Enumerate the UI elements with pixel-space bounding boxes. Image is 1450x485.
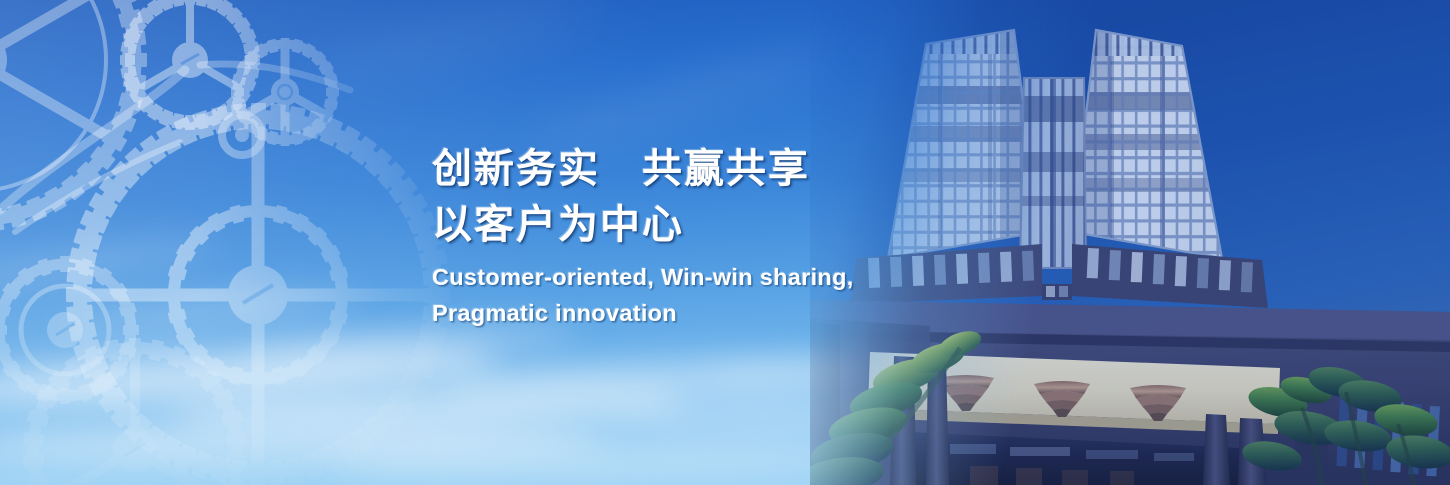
hero-text-block: 创新务实 共赢共享 以客户为中心 Customer-oriented, Win-… (432, 141, 854, 331)
headquarters-building-photo (810, 0, 1450, 485)
subheadline-line-1: Customer-oriented, Win-win sharing, (432, 259, 854, 295)
cloud-wisp (302, 0, 598, 86)
headline-line-1: 创新务实 共赢共享 (432, 141, 854, 197)
cloud-wisp (0, 232, 220, 290)
subheadline-line-2: Pragmatic innovation (432, 295, 854, 331)
cloud-wisp (60, 287, 361, 337)
cloud-wisp (524, 42, 836, 157)
headline-line-2: 以客户为中心 (432, 197, 854, 253)
hero-banner: 创新务实 共赢共享 以客户为中心 Customer-oriented, Win-… (0, 0, 1450, 485)
